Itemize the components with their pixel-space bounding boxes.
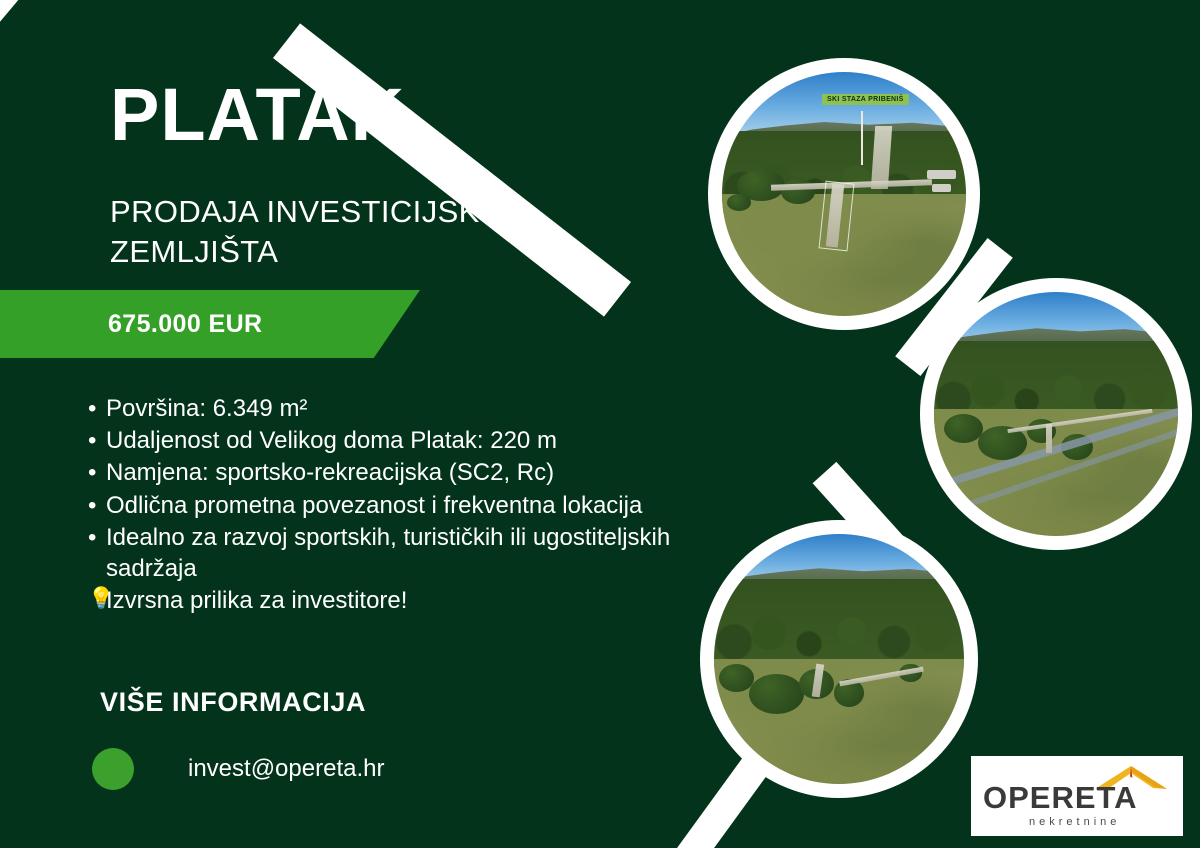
- company-logo: OPERETA nekretnine: [967, 752, 1187, 840]
- page-title: PLATAK: [110, 78, 405, 152]
- list-item-highlight: 💡 Izvrsna prilika za investitore!: [88, 585, 688, 616]
- bullet-marker-icon: •: [88, 490, 106, 521]
- list-item: • Namjena: sportsko-rekreacijska (SC2, R…: [88, 457, 688, 488]
- email-dot-icon: [92, 748, 134, 790]
- feature-list: • Površina: 6.349 m² • Udaljenost od Vel…: [88, 393, 688, 617]
- logo-wordmark: OPERETA: [983, 780, 1138, 816]
- list-item: • Površina: 6.349 m²: [88, 393, 688, 424]
- photo-circle-meadow-road: [920, 278, 1192, 550]
- list-item-text: Namjena: sportsko-rekreacijska (SC2, Rc): [106, 457, 688, 488]
- list-item-text: Idealno za razvoj sportskih, turističkih…: [106, 522, 688, 584]
- contact-heading: VIŠE INFORMACIJA: [100, 687, 366, 718]
- contact-email[interactable]: invest@opereta.hr: [188, 755, 384, 783]
- bullet-marker-icon: •: [88, 425, 106, 456]
- price-banner: 675.000 EUR: [0, 290, 420, 358]
- list-item-text: Udaljenost od Velikog doma Platak: 220 m: [106, 425, 688, 456]
- list-item: • Udaljenost od Velikog doma Platak: 220…: [88, 425, 688, 456]
- list-item: • Idealno za razvoj sportskih, turističk…: [88, 522, 688, 584]
- list-item-text: Površina: 6.349 m²: [106, 393, 688, 424]
- contact-row[interactable]: invest@opereta.hr: [92, 748, 384, 790]
- photo-circle-ski-slope: SKI STAZA PRIBENIŠ: [708, 58, 980, 330]
- bullet-marker-icon: •: [88, 457, 106, 488]
- decorative-diagonal-band-main: [273, 23, 631, 316]
- lightbulb-icon: 💡: [88, 585, 106, 612]
- decorative-diagonal-band-top-left: [0, 0, 31, 214]
- list-item: • Odlična prometna povezanost i frekvent…: [88, 490, 688, 521]
- list-item-text: Izvrsna prilika za investitore!: [106, 585, 688, 616]
- page-subtitle: PRODAJA INVESTICIJSKOG ZEMLJIŠTA: [110, 192, 580, 271]
- bullet-marker-icon: •: [88, 522, 106, 553]
- list-item-text: Odlična prometna povezanost i frekventna…: [106, 490, 688, 521]
- poster-canvas: SKI STAZA PRIBENIŠ: [0, 0, 1200, 848]
- photo-caption-badge: SKI STAZA PRIBENIŠ: [822, 94, 909, 105]
- price-label: 675.000 EUR: [108, 310, 263, 339]
- logo-tagline: nekretnine: [1029, 816, 1120, 828]
- bullet-marker-icon: •: [88, 393, 106, 424]
- photo-circle-forest-clearing: [700, 520, 978, 798]
